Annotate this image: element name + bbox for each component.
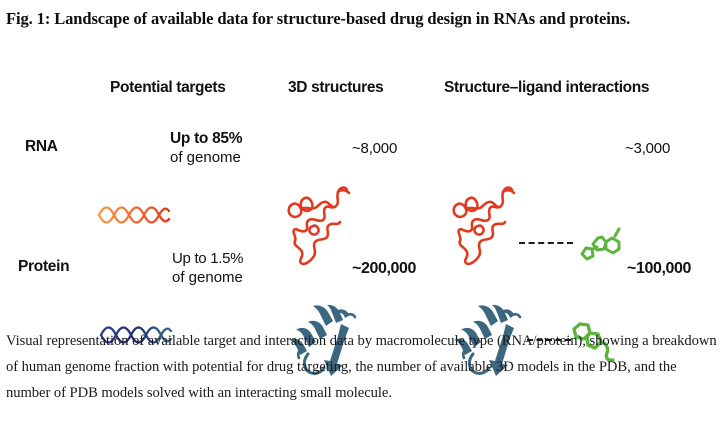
genome-amount-protein: Up to 1.5% <box>172 249 243 268</box>
column-header-structure-ligand-interactions: Structure–ligand interactions <box>444 79 649 97</box>
rna-3d-structure-icon-col3 <box>448 184 520 266</box>
figure-caption: Visual representation of available targe… <box>6 328 718 406</box>
count-rna-interactions: ~3,000 <box>625 140 670 157</box>
count-protein-3d-structures: ~200,000 <box>352 260 416 278</box>
figure-graphic-panel: Potential targets 3D structures Structur… <box>0 66 724 321</box>
row-label-protein: Protein <box>18 258 69 276</box>
column-header-3d-structures: 3D structures <box>288 79 383 97</box>
count-rna-3d-structures: ~8,000 <box>352 140 397 157</box>
genome-fraction-rna: Up to 85% of genome <box>170 129 242 167</box>
small-molecule-ligand-icon-rna <box>578 221 626 261</box>
genome-fraction-protein: Up to 1.5% of genome <box>172 249 243 287</box>
genome-sub-protein: of genome <box>172 268 243 287</box>
dashed-connector-line-rna <box>519 242 573 244</box>
figure-title: Fig. 1: Landscape of available data for … <box>6 6 696 31</box>
count-protein-interactions: ~100,000 <box>627 260 691 278</box>
column-header-potential-targets: Potential targets <box>110 79 226 97</box>
genome-sub-rna: of genome <box>170 148 242 167</box>
row-label-rna: RNA <box>25 138 58 156</box>
dna-helix-icon-rna <box>97 202 171 228</box>
rna-3d-structure-icon-col2 <box>283 184 355 266</box>
genome-amount-rna: Up to 85% <box>170 129 242 148</box>
